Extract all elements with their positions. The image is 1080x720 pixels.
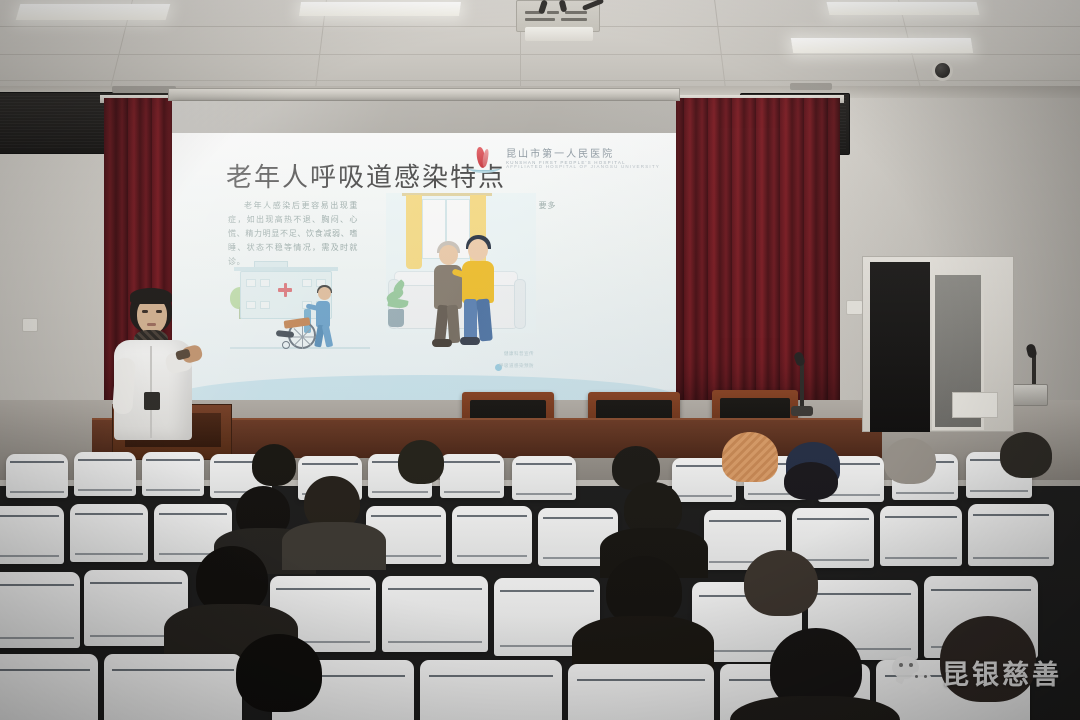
ceiling (0, 0, 1080, 96)
microphone-stem (800, 360, 804, 410)
seat[interactable] (512, 456, 576, 500)
stage-curtain-right (660, 98, 840, 428)
presentation-slide: 老年人呼吸道感染特点 昆山市第一人民医院 KUNSHAN FIRST PEOPL… (172, 133, 676, 401)
door-opening (870, 262, 930, 432)
ceiling-light-center (299, 2, 461, 16)
seat[interactable] (452, 506, 532, 564)
ceiling-light-right (791, 38, 973, 53)
audience-head (398, 440, 444, 484)
projection-screen-case (168, 88, 680, 101)
seat[interactable] (104, 654, 242, 720)
audience-knit-hat (722, 432, 778, 482)
seat[interactable] (142, 452, 204, 496)
hospital-logo: 昆山市第一人民医院 KUNSHAN FIRST PEOPLE'S HOSPITA… (467, 147, 660, 173)
presenter (104, 288, 196, 448)
illustration-note-1: 健康科普宣传 (504, 351, 534, 357)
hospital-subline-2: AFFILIATED HOSPITAL OF JIANGSU UNIVERSIT… (506, 165, 660, 170)
seat[interactable] (6, 454, 68, 498)
ceiling-light-left (16, 4, 171, 20)
presenter-badge (144, 392, 160, 410)
door-sign-plate (952, 392, 998, 418)
seat[interactable] (0, 654, 98, 720)
hospital-logo-mark (467, 147, 501, 173)
seat[interactable] (880, 506, 962, 566)
audience-head (884, 438, 936, 484)
audience-head (1000, 432, 1052, 478)
seat[interactable] (440, 454, 504, 498)
hospital-name: 昆山市第一人民医院 (506, 150, 660, 161)
screen-inactive-band (172, 101, 676, 133)
audience-head (784, 462, 838, 500)
ceiling-light-far-right (826, 2, 979, 15)
seat[interactable] (382, 576, 488, 652)
lecture-hall-photo: 老年人呼吸道感染特点 昆山市第一人民医院 KUNSHAN FIRST PEOPL… (0, 0, 1080, 720)
wall-outlet-left[interactable] (22, 318, 38, 332)
seat[interactable] (968, 504, 1054, 566)
projection-screen: 老年人呼吸道感染特点 昆山市第一人民医院 KUNSHAN FIRST PEOPL… (172, 101, 676, 401)
slide-title: 老年人呼吸道感染特点 (226, 157, 506, 194)
illustration-sofa-care: 健康科普宣传 呼吸道感染预防 (386, 193, 536, 383)
wall-switch[interactable] (846, 300, 863, 315)
wechat-icon (892, 656, 932, 690)
seat[interactable] (0, 572, 80, 648)
illustration-hospital-wheelchair (230, 251, 370, 377)
seat[interactable] (70, 504, 148, 562)
audience-head (236, 634, 322, 712)
seat[interactable] (74, 452, 136, 496)
seat[interactable] (0, 506, 64, 564)
speaker-mount-right (790, 83, 832, 90)
ceiling-dome-camera (935, 63, 950, 78)
audience-head (252, 444, 296, 486)
audience-shoulders (282, 522, 386, 570)
seat[interactable] (568, 664, 714, 720)
audience-head (744, 550, 818, 616)
seat[interactable] (420, 660, 562, 720)
illustration-note-2: 呼吸道感染预防 (499, 363, 534, 369)
watermark: 昆银慈善 (892, 653, 1062, 692)
microphone-base (791, 406, 813, 416)
watermark-label: 昆银慈善 (942, 653, 1062, 692)
speaker-mount-left (112, 86, 176, 93)
